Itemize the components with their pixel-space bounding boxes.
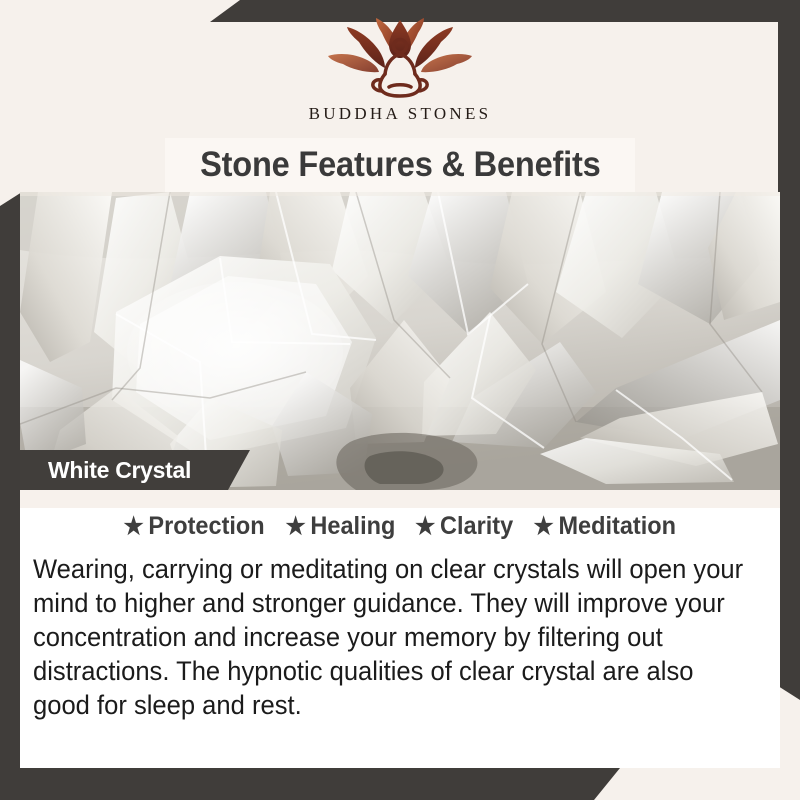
star-icon: ★ (534, 515, 554, 539)
content-top-accent-band (20, 490, 780, 508)
frame-accent-bottom-left (0, 768, 620, 800)
stone-name-banner: White Crystal (20, 450, 250, 490)
benefit-label: Clarity (440, 512, 513, 541)
benefit-label: Healing (311, 512, 396, 541)
benefit-item-meditation: ★ Meditation (534, 512, 676, 541)
brand-logo: BUDDHA STONES (0, 16, 800, 136)
star-icon: ★ (124, 515, 144, 539)
content-panel: ★ Protection ★ Healing ★ Clarity ★ Medit… (20, 490, 780, 768)
lotus-meditation-figure-icon (326, 16, 474, 102)
frame-accent-left (0, 192, 22, 800)
stone-name-label: White Crystal (48, 457, 191, 484)
infographic-page: BUDDHA STONES Stone Features & Benefits (0, 0, 800, 800)
benefit-label: Protection (149, 512, 265, 541)
white-crystal-photo (20, 192, 780, 490)
header: BUDDHA STONES Stone Features & Benefits (0, 0, 800, 192)
benefit-item-protection: ★ Protection (124, 512, 265, 541)
hero-image (20, 192, 780, 490)
description-text: Wearing, carrying or meditating on clear… (33, 552, 745, 722)
benefit-item-healing: ★ Healing (286, 512, 396, 541)
benefit-label: Meditation (559, 512, 677, 541)
brand-name: BUDDHA STONES (309, 104, 492, 124)
page-title: Stone Features & Benefits (200, 145, 601, 185)
star-icon: ★ (286, 515, 306, 539)
title-plate: Stone Features & Benefits (165, 138, 635, 192)
star-icon: ★ (415, 515, 435, 539)
benefit-item-clarity: ★ Clarity (415, 512, 513, 541)
benefits-list: ★ Protection ★ Healing ★ Clarity ★ Medit… (20, 512, 780, 541)
